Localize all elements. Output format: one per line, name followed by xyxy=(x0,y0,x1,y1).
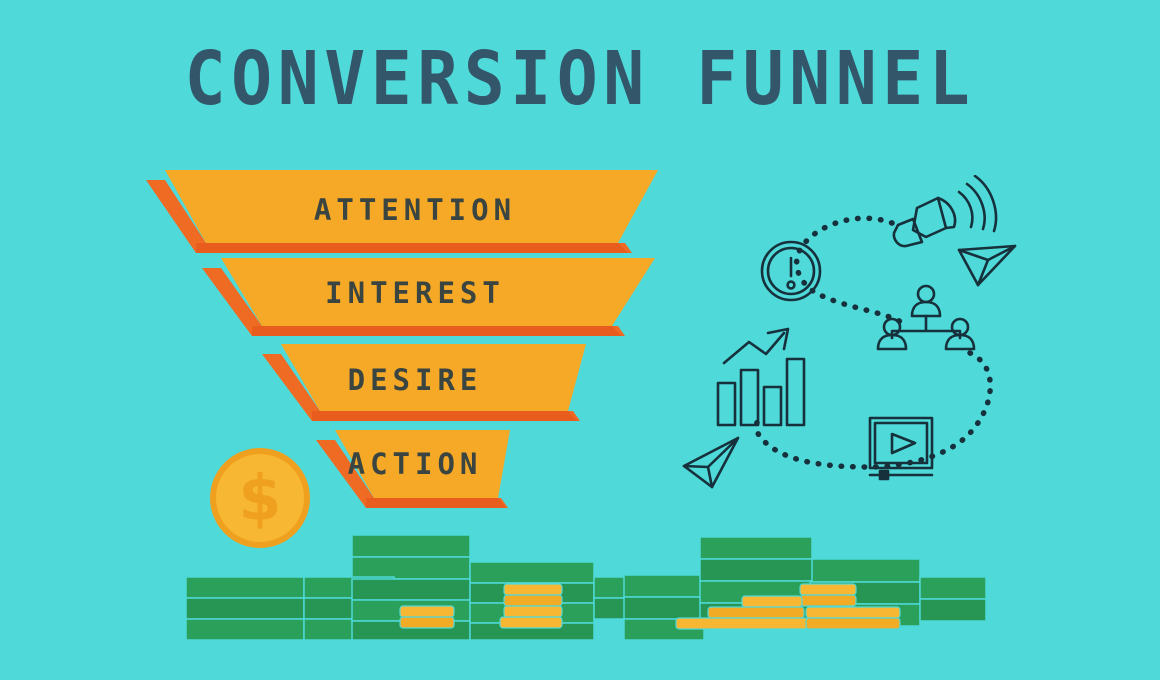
banknote-stack xyxy=(920,577,986,621)
megaphone-icon xyxy=(894,176,996,246)
dotted-path-upper xyxy=(797,218,903,323)
banknote-stack xyxy=(624,575,704,640)
banknote-stack xyxy=(700,537,812,559)
dotted-path-lower xyxy=(756,353,990,467)
funnel-stage-desire-shadow-bar xyxy=(312,411,578,421)
video-player-icon xyxy=(870,418,932,479)
funnel-label-desire: DESIRE xyxy=(235,363,595,397)
funnel-label-interest: INTEREST xyxy=(235,276,595,310)
funnel-label-attention: ATTENTION xyxy=(235,193,595,227)
conversion-funnel: ATTENTION INTEREST DESIRE ACTION xyxy=(0,0,700,540)
funnel-stage-attention-shadow-bar xyxy=(196,243,628,253)
coin-pile xyxy=(800,584,856,606)
funnel-stage-action-shadow-bar xyxy=(366,498,506,508)
exclamation-circle-icon xyxy=(762,242,820,300)
funnel-stage-interest-shadow-bar xyxy=(252,326,622,336)
money-svg xyxy=(0,520,1160,640)
banknote-stack xyxy=(810,559,920,582)
bar-chart-growth-icon xyxy=(718,329,804,425)
banknote-stack xyxy=(352,535,470,579)
coin-pile xyxy=(400,606,454,628)
money-stacks xyxy=(0,520,1160,640)
coin-pile xyxy=(806,607,900,629)
coin-pile xyxy=(504,584,562,617)
paper-plane-icon xyxy=(959,246,1015,285)
poster-canvas: CONVERSION FUNNEL xyxy=(0,0,1160,680)
paper-plane-icon xyxy=(684,438,738,487)
banknote-stack xyxy=(186,577,304,640)
marketing-channels-illustration xyxy=(670,175,1050,505)
people-network-icon xyxy=(878,286,974,349)
coin-pile xyxy=(500,617,562,628)
banknote-stack xyxy=(470,562,594,583)
illustration-svg xyxy=(670,175,1050,505)
